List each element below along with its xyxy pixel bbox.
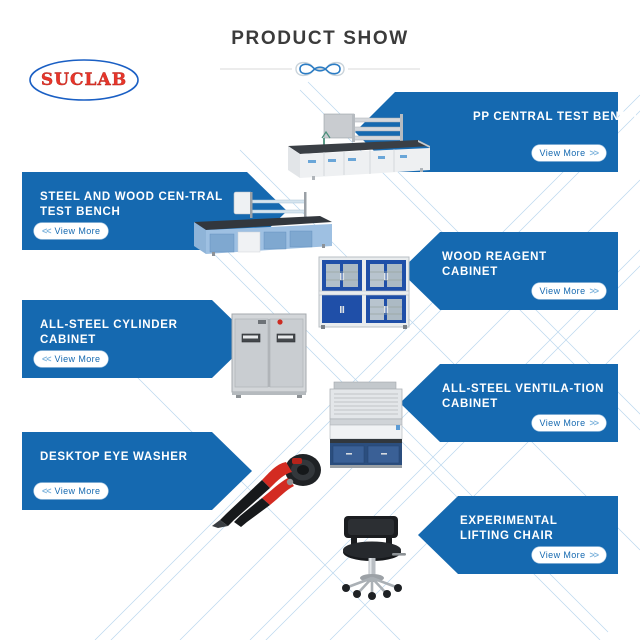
brand-logo: SUCLAB xyxy=(28,58,140,102)
view-more-label: View More xyxy=(540,286,586,296)
chevron-right-icon: >> xyxy=(589,286,598,296)
infinity-ornament-icon xyxy=(220,58,420,80)
chevron-left-icon: << xyxy=(42,226,51,236)
view-more-button[interactable]: << View More xyxy=(34,223,108,239)
view-more-button[interactable]: View More >> xyxy=(532,283,606,299)
product-panel-wood-reagent-cabinet[interactable]: WOOD REAGENT CABINET View More >> xyxy=(400,232,618,310)
product-title: ALL-STEEL VENTILA-TION CABINET xyxy=(442,382,607,412)
chevron-left-icon: << xyxy=(42,486,51,496)
product-image-lab-chair xyxy=(326,508,418,600)
view-more-label: View More xyxy=(540,418,586,428)
chevron-right-icon: >> xyxy=(589,148,598,158)
view-more-label: View More xyxy=(540,148,586,158)
view-more-button[interactable]: << View More xyxy=(34,351,108,367)
chevron-right-icon: >> xyxy=(589,418,598,428)
product-title: PP CENTRAL TEST BENCH xyxy=(473,110,640,125)
view-more-button[interactable]: View More >> xyxy=(532,415,606,431)
product-image-fume-hood xyxy=(324,380,410,470)
product-title: WOOD REAGENT CABINET xyxy=(442,250,602,280)
view-more-label: View More xyxy=(55,486,101,496)
product-image-reagent-cabinet xyxy=(316,254,412,334)
product-show-page: PRODUCT SHOW SUCLAB PP CENTRAL TEST BENC… xyxy=(0,0,640,640)
view-more-button[interactable]: View More >> xyxy=(532,547,606,563)
view-more-button[interactable]: << View More xyxy=(34,483,108,499)
product-panel-all-steel-cylinder-cabinet[interactable]: ALL-STEEL CYLINDER CABINET << View More xyxy=(22,300,252,378)
product-image-lab-bench-blue xyxy=(186,188,336,268)
view-more-label: View More xyxy=(540,550,586,560)
product-title: ALL-STEEL CYLINDER CABINET xyxy=(40,318,230,348)
product-image-cylinder-cabinet xyxy=(228,310,310,398)
view-more-label: View More xyxy=(55,226,101,236)
view-more-button[interactable]: View More >> xyxy=(532,145,606,161)
product-image-eye-washer xyxy=(200,448,330,528)
chevron-right-icon: >> xyxy=(589,550,598,560)
logo-text: SUCLAB xyxy=(28,58,140,102)
product-panel-all-steel-ventilation-cabinet[interactable]: ALL-STEEL VENTILA-TION CABINET View More… xyxy=(400,364,618,442)
product-title: EXPERIMENTAL LIFTING CHAIR xyxy=(460,514,610,544)
product-image-lab-bench xyxy=(282,108,432,188)
chevron-left-icon: << xyxy=(42,354,51,364)
view-more-label: View More xyxy=(55,354,101,364)
product-panel-experimental-lifting-chair[interactable]: EXPERIMENTAL LIFTING CHAIR View More >> xyxy=(418,496,618,574)
page-title: PRODUCT SHOW xyxy=(0,28,640,50)
